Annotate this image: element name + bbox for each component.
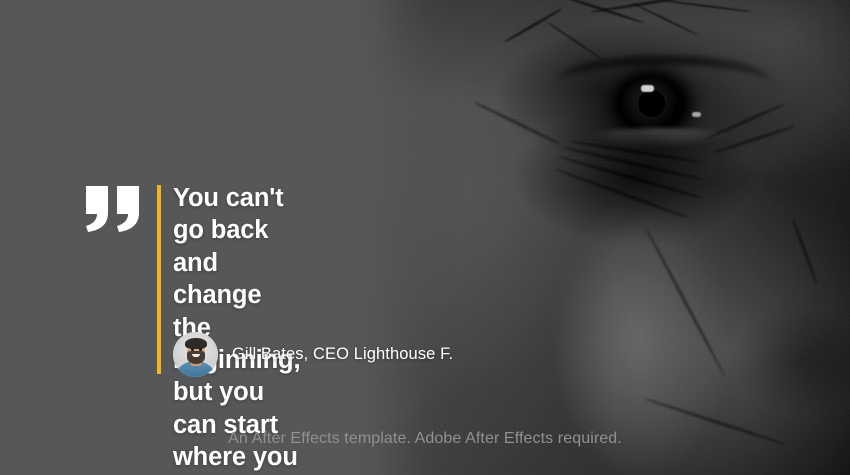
avatar-eye-left bbox=[191, 348, 194, 351]
gray-overlay-scrim bbox=[0, 0, 850, 475]
attribution-name: Gill Bates, CEO Lighthouse F. bbox=[232, 345, 453, 364]
quotation-mark-icon bbox=[86, 186, 142, 232]
avatar-beard bbox=[187, 351, 205, 364]
attribution: Gill Bates, CEO Lighthouse F. bbox=[173, 332, 453, 377]
footer-note: An After Effects template. Adobe After E… bbox=[0, 430, 850, 448]
avatar bbox=[173, 332, 218, 377]
avatar-eye-right bbox=[199, 348, 202, 351]
avatar-hair bbox=[185, 338, 207, 349]
quote-slide-canvas: You can't go back and change the beginni… bbox=[0, 0, 850, 475]
accent-bar bbox=[157, 185, 161, 374]
